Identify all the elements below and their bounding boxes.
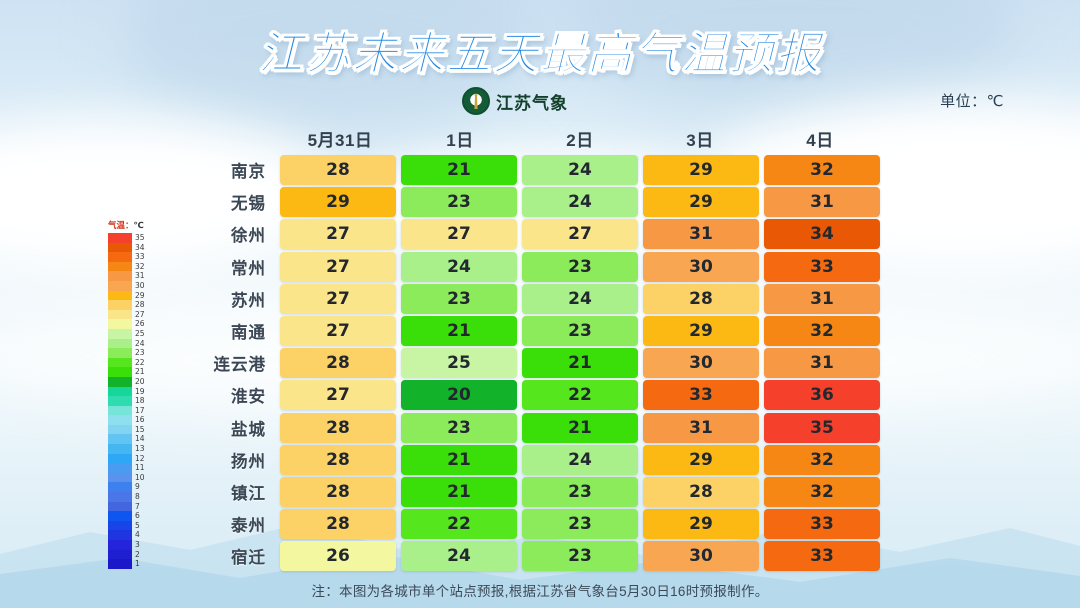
colorbar-title: 气温：℃ (108, 219, 156, 231)
colorbar-entry: 2 (108, 550, 156, 560)
temperature-cell: 35 (764, 413, 880, 443)
colorbar-swatch (108, 425, 132, 435)
colorbar-entry: 20 (108, 377, 156, 387)
temperature-cells: 2822232933 (280, 509, 880, 539)
temperature-cell: 23 (522, 316, 638, 346)
weather-bureau-icon (462, 87, 490, 115)
table-row: 盐城2823213135 (196, 413, 880, 443)
colorbar-swatch (108, 329, 132, 339)
temperature-cell: 24 (522, 187, 638, 217)
colorbar-swatch (108, 310, 132, 320)
temperature-cells: 2723242831 (280, 284, 880, 314)
temperature-cells: 2727273134 (280, 219, 880, 249)
temperature-cell: 21 (401, 155, 517, 185)
city-label: 苏州 (196, 287, 280, 311)
temperature-cell: 23 (522, 541, 638, 571)
colorbar-entry: 1 (108, 559, 156, 569)
temperature-cell: 27 (280, 219, 396, 249)
temperature-colorbar: 气温：℃ 35343332313029282726252423222120191… (108, 219, 156, 569)
temperature-cells: 2624233033 (280, 541, 880, 571)
colorbar-entry: 6 (108, 511, 156, 521)
temperature-cell: 29 (643, 155, 759, 185)
temperature-cell: 28 (280, 477, 396, 507)
temperature-cell: 21 (522, 413, 638, 443)
colorbar-entry: 8 (108, 492, 156, 502)
colorbar-tick-label: 20 (135, 378, 145, 386)
temperature-cell: 30 (643, 541, 759, 571)
colorbar-entry: 18 (108, 396, 156, 406)
city-label: 徐州 (196, 222, 280, 246)
temperature-cells: 2821232832 (280, 477, 880, 507)
colorbar-tick-label: 21 (135, 368, 145, 376)
colorbar-swatch (108, 415, 132, 425)
temperature-cell: 32 (764, 477, 880, 507)
colorbar-swatch (108, 521, 132, 531)
colorbar-swatch (108, 559, 132, 569)
temperature-cell: 23 (401, 413, 517, 443)
temperature-cell: 33 (764, 509, 880, 539)
city-label: 镇江 (196, 480, 280, 504)
temperature-cell: 20 (401, 380, 517, 410)
colorbar-swatch (108, 252, 132, 262)
temperature-cell: 24 (522, 445, 638, 475)
column-header-4: 4日 (760, 126, 880, 151)
temperature-cell: 27 (280, 252, 396, 282)
temperature-cell: 25 (401, 348, 517, 378)
org-name: 江苏气象 (496, 89, 568, 114)
temperature-cell: 31 (643, 219, 759, 249)
city-label: 常州 (196, 255, 280, 279)
colorbar-tick-label: 15 (135, 426, 145, 434)
table-row: 徐州2727273134 (196, 219, 880, 249)
colorbar-tick-label: 26 (135, 320, 145, 328)
column-header-0: 5月31日 (280, 126, 400, 151)
column-headers: 5月31日1日2日3日4日 (280, 126, 880, 151)
page-title: 江苏未来五天最高气温预报 (0, 17, 1080, 82)
colorbar-swatch (108, 492, 132, 502)
temperature-cell: 30 (643, 348, 759, 378)
temperature-cell: 31 (764, 348, 880, 378)
colorbar-entry: 15 (108, 425, 156, 435)
colorbar-swatch (108, 406, 132, 416)
colorbar-entry: 26 (108, 319, 156, 329)
temperature-cell: 32 (764, 155, 880, 185)
colorbar-entry: 29 (108, 291, 156, 301)
colorbar-entry: 11 (108, 463, 156, 473)
temperature-cell: 27 (280, 316, 396, 346)
temperature-cell: 24 (522, 155, 638, 185)
colorbar-swatch (108, 434, 132, 444)
city-label: 连云港 (196, 351, 280, 375)
city-label: 宿迁 (196, 544, 280, 568)
colorbar-swatch (108, 243, 132, 253)
temperature-cell: 27 (401, 219, 517, 249)
table-row: 南京2821242932 (196, 155, 880, 185)
temperature-cell: 26 (280, 541, 396, 571)
forecast-table: 南京2821242932无锡2923242931徐州2727273134常州27… (196, 155, 880, 573)
colorbar-swatch (108, 396, 132, 406)
colorbar-swatch (108, 291, 132, 301)
colorbar-entry: 7 (108, 502, 156, 512)
colorbar-tick-label: 5 (135, 522, 140, 530)
colorbar-swatch (108, 387, 132, 397)
colorbar-entry: 9 (108, 482, 156, 492)
colorbar-entry: 4 (108, 530, 156, 540)
temperature-cell: 28 (280, 509, 396, 539)
colorbar-tick-label: 31 (135, 272, 145, 280)
temperature-cell: 29 (280, 187, 396, 217)
colorbar-swatch (108, 348, 132, 358)
table-row: 苏州2723242831 (196, 284, 880, 314)
colorbar-swatch (108, 300, 132, 310)
temperature-cells: 2721232932 (280, 316, 880, 346)
table-row: 扬州2821242932 (196, 445, 880, 475)
colorbar-swatch (108, 502, 132, 512)
colorbar-entry: 31 (108, 271, 156, 281)
colorbar-tick-label: 11 (135, 464, 145, 472)
temperature-cells: 2724233033 (280, 252, 880, 282)
temperature-cells: 2821242932 (280, 445, 880, 475)
temperature-cells: 2720223336 (280, 380, 880, 410)
temperature-cell: 24 (401, 541, 517, 571)
colorbar-entry: 16 (108, 415, 156, 425)
colorbar-tick-label: 27 (135, 311, 145, 319)
colorbar-swatches: 3534333231302928272625242322212019181716… (108, 233, 156, 569)
column-header-3: 3日 (640, 126, 760, 151)
colorbar-tick-label: 22 (135, 359, 145, 367)
city-label: 南通 (196, 319, 280, 343)
temperature-cells: 2821242932 (280, 155, 880, 185)
colorbar-swatch (108, 463, 132, 473)
colorbar-entry: 33 (108, 252, 156, 262)
colorbar-tick-label: 3 (135, 541, 140, 549)
temperature-cell: 28 (643, 284, 759, 314)
temperature-cell: 29 (643, 445, 759, 475)
city-label: 盐城 (196, 416, 280, 440)
colorbar-entry: 14 (108, 434, 156, 444)
colorbar-entry: 22 (108, 358, 156, 368)
colorbar-entry: 3 (108, 540, 156, 550)
colorbar-tick-label: 33 (135, 253, 145, 261)
column-header-2: 2日 (520, 126, 640, 151)
temperature-cell: 23 (522, 477, 638, 507)
colorbar-swatch (108, 233, 132, 243)
table-row: 镇江2821232832 (196, 477, 880, 507)
temperature-cell: 27 (522, 219, 638, 249)
table-row: 泰州2822232933 (196, 509, 880, 539)
city-label: 无锡 (196, 190, 280, 214)
temperature-cell: 24 (401, 252, 517, 282)
city-label: 扬州 (196, 448, 280, 472)
colorbar-swatch (108, 367, 132, 377)
colorbar-swatch (108, 319, 132, 329)
table-row: 常州2724233033 (196, 252, 880, 282)
city-label: 淮安 (196, 383, 280, 407)
temperature-cell: 34 (764, 219, 880, 249)
temperature-cell: 31 (764, 187, 880, 217)
colorbar-entry: 13 (108, 444, 156, 454)
colorbar-entry: 5 (108, 521, 156, 531)
table-row: 淮安2720223336 (196, 380, 880, 410)
temperature-cell: 21 (522, 348, 638, 378)
city-label: 泰州 (196, 512, 280, 536)
temperature-cell: 27 (280, 284, 396, 314)
colorbar-entry: 35 (108, 233, 156, 243)
colorbar-tick-label: 12 (135, 455, 145, 463)
colorbar-tick-label: 6 (135, 512, 140, 520)
colorbar-tick-label: 4 (135, 531, 140, 539)
table-row: 连云港2825213031 (196, 348, 880, 378)
colorbar-entry: 10 (108, 473, 156, 483)
temperature-cell: 28 (280, 413, 396, 443)
temperature-cell: 33 (643, 380, 759, 410)
colorbar-tick-label: 18 (135, 397, 145, 405)
temperature-cell: 27 (280, 380, 396, 410)
colorbar-swatch (108, 262, 132, 272)
colorbar-swatch (108, 530, 132, 540)
colorbar-swatch (108, 540, 132, 550)
colorbar-swatch (108, 511, 132, 521)
colorbar-entry: 28 (108, 300, 156, 310)
colorbar-entry: 21 (108, 367, 156, 377)
colorbar-entry: 24 (108, 339, 156, 349)
colorbar-tick-label: 32 (135, 263, 145, 271)
colorbar-tick-label: 16 (135, 416, 145, 424)
temperature-cell: 31 (764, 284, 880, 314)
colorbar-tick-label: 7 (135, 503, 140, 511)
colorbar-swatch (108, 482, 132, 492)
colorbar-tick-label: 19 (135, 388, 145, 396)
colorbar-swatch (108, 377, 132, 387)
table-row: 宿迁2624233033 (196, 541, 880, 571)
temperature-cell: 28 (280, 348, 396, 378)
colorbar-tick-label: 28 (135, 301, 145, 309)
colorbar-tick-label: 13 (135, 445, 145, 453)
colorbar-tick-label: 9 (135, 483, 140, 491)
colorbar-swatch (108, 550, 132, 560)
colorbar-entry: 19 (108, 387, 156, 397)
footer-note: 注：本图为各城市单个站点预报,根据江苏省气象台5月30日16时预报制作。 (0, 580, 1080, 600)
colorbar-swatch (108, 473, 132, 483)
colorbar-tick-label: 34 (135, 244, 145, 252)
colorbar-tick-label: 1 (135, 560, 140, 568)
colorbar-entry: 23 (108, 348, 156, 358)
temperature-cell: 29 (643, 187, 759, 217)
colorbar-swatch (108, 358, 132, 368)
colorbar-entry: 32 (108, 262, 156, 272)
colorbar-entry: 30 (108, 281, 156, 291)
temperature-cell: 28 (280, 445, 396, 475)
colorbar-entry: 27 (108, 310, 156, 320)
temperature-cells: 2823213135 (280, 413, 880, 443)
colorbar-tick-label: 2 (135, 551, 140, 559)
colorbar-swatch (108, 339, 132, 349)
colorbar-swatch (108, 271, 132, 281)
temperature-cell: 21 (401, 316, 517, 346)
column-header-1: 1日 (400, 126, 520, 151)
colorbar-swatch (108, 281, 132, 291)
temperature-cell: 24 (522, 284, 638, 314)
temperature-cells: 2825213031 (280, 348, 880, 378)
colorbar-tick-label: 25 (135, 330, 145, 338)
temperature-cell: 21 (401, 445, 517, 475)
unit-label: 单位：℃ (940, 90, 1004, 111)
temperature-cells: 2923242931 (280, 187, 880, 217)
temperature-cell: 29 (643, 509, 759, 539)
temperature-cell: 21 (401, 477, 517, 507)
temperature-cell: 28 (280, 155, 396, 185)
infographic-canvas: 江苏未来五天最高气温预报 江苏气象 单位：℃ 气温：℃ 353433323130… (0, 0, 1080, 608)
temperature-cell: 32 (764, 316, 880, 346)
table-row: 南通2721232932 (196, 316, 880, 346)
temperature-cell: 30 (643, 252, 759, 282)
temperature-cell: 28 (643, 477, 759, 507)
temperature-cell: 23 (522, 252, 638, 282)
colorbar-swatch (108, 454, 132, 464)
temperature-cell: 36 (764, 380, 880, 410)
temperature-cell: 33 (764, 252, 880, 282)
colorbar-tick-label: 24 (135, 340, 145, 348)
temperature-cell: 22 (401, 509, 517, 539)
colorbar-tick-label: 35 (135, 234, 145, 242)
colorbar-tick-label: 30 (135, 282, 145, 290)
temperature-cell: 23 (522, 509, 638, 539)
temperature-cell: 23 (401, 284, 517, 314)
table-row: 无锡2923242931 (196, 187, 880, 217)
temperature-cell: 31 (643, 413, 759, 443)
temperature-cell: 29 (643, 316, 759, 346)
colorbar-entry: 25 (108, 329, 156, 339)
colorbar-tick-label: 10 (135, 474, 145, 482)
temperature-cell: 33 (764, 541, 880, 571)
colorbar-entry: 34 (108, 243, 156, 253)
colorbar-swatch (108, 444, 132, 454)
colorbar-tick-label: 29 (135, 292, 145, 300)
colorbar-tick-label: 14 (135, 435, 145, 443)
org-logo: 江苏气象 (462, 86, 568, 116)
colorbar-entry: 17 (108, 406, 156, 416)
colorbar-tick-label: 8 (135, 493, 140, 501)
temperature-cell: 23 (401, 187, 517, 217)
temperature-cell: 22 (522, 380, 638, 410)
temperature-cell: 32 (764, 445, 880, 475)
colorbar-entry: 12 (108, 454, 156, 464)
colorbar-tick-label: 23 (135, 349, 145, 357)
city-label: 南京 (196, 158, 280, 182)
colorbar-tick-label: 17 (135, 407, 145, 415)
